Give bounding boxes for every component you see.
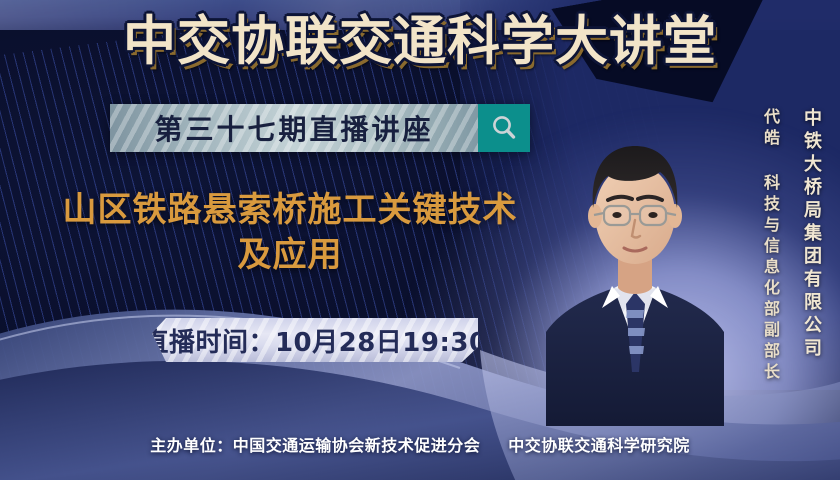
organizer-label: 主办单位：中国交通运输协会新技术促进分会 bbox=[150, 436, 480, 455]
topic-line-2: 及应用 bbox=[30, 233, 550, 278]
broadcast-time-badge: 直播时间：10月28日19:30 bbox=[152, 318, 478, 362]
episode-banner-body: 第三十七期直播讲座 bbox=[110, 104, 478, 152]
broadcast-time-label: 直播时间：10月28日19:30 bbox=[152, 322, 478, 359]
page-title: 中交协联交通科学大讲堂 bbox=[0, 14, 840, 70]
speaker-portrait bbox=[540, 96, 730, 426]
topic-line-1: 山区铁路悬索桥施工关键技术 bbox=[30, 188, 550, 233]
speaker-organization: 中铁大桥局集团有限公司 bbox=[798, 108, 824, 361]
footer: 主办单位：中国交通运输协会新技术促进分会中交协联交通科学研究院 bbox=[0, 432, 840, 456]
episode-label: 第三十七期直播讲座 bbox=[154, 108, 433, 148]
speaker-name-title: 代皓 科技与信息化部副部长 bbox=[758, 108, 782, 384]
live-stream-poster: 中交协联交通科学大讲堂 第三十七期直播讲座 山区铁路悬索桥施工关键技术 及应用 … bbox=[0, 0, 840, 480]
lecture-topic: 山区铁路悬索桥施工关键技术 及应用 bbox=[30, 188, 550, 278]
co-organizer-label: 中交协联交通科学研究院 bbox=[508, 436, 690, 455]
search-icon[interactable] bbox=[478, 104, 530, 152]
episode-banner: 第三十七期直播讲座 bbox=[110, 104, 530, 152]
